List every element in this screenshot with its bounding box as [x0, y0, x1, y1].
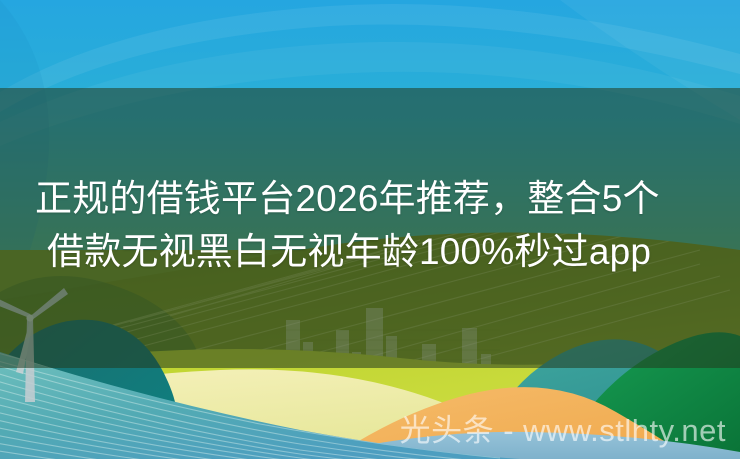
headline-line-2: 借款无视黑白无视年龄100%秒过app [18, 225, 722, 278]
page-title: 正规的借钱平台2026年推荐，整合5个 借款无视黑白无视年龄100%秒过app [0, 172, 740, 278]
article-cover-banner: 正规的借钱平台2026年推荐，整合5个 借款无视黑白无视年龄100%秒过app … [0, 0, 740, 459]
headline-line-1: 正规的借钱平台2026年推荐，整合5个 [18, 172, 722, 225]
